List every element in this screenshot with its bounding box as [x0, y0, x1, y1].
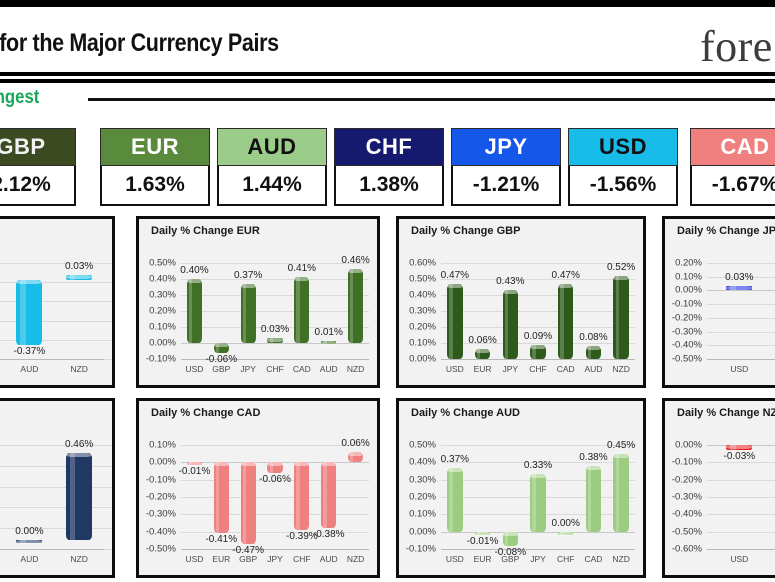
gridline — [441, 532, 635, 533]
bar-value-label: 0.00% — [552, 518, 580, 529]
x-axis-tick-label: JPY — [530, 554, 546, 564]
bar-value-label: 0.38% — [579, 452, 607, 463]
bar-value-label: 0.45% — [607, 440, 635, 451]
bar[interactable] — [530, 345, 546, 359]
x-axis-tick-label: USD — [446, 554, 464, 564]
x-axis-tick-label: AUD — [20, 554, 38, 564]
y-axis-tick-label: 0.20% — [139, 306, 176, 317]
gridline — [0, 263, 112, 264]
gridline — [707, 514, 775, 515]
bar[interactable] — [348, 452, 363, 462]
currency-code-label: USD — [568, 128, 678, 166]
currency-change-value: 1.38% — [334, 166, 444, 206]
strength-card-eur[interactable]: EUR1.63% — [100, 128, 210, 206]
x-axis-tick-label: NZD — [70, 364, 87, 374]
gridline — [707, 532, 775, 533]
bar[interactable] — [726, 286, 752, 290]
brand-logo: fore — [700, 21, 773, 72]
y-axis-tick-label: -0.10% — [665, 299, 702, 310]
bar[interactable] — [503, 290, 519, 359]
plot-area: 0.60%0.50%0.40%0.30%0.20%0.10%0.00%0.47%… — [399, 243, 643, 385]
y-axis-tick-label: 0.40% — [399, 290, 436, 301]
bar[interactable] — [447, 468, 463, 532]
bar[interactable] — [267, 462, 282, 472]
bar[interactable] — [66, 453, 92, 540]
currency-change-value: 1.44% — [217, 166, 327, 206]
x-axis-tick-label: USD — [185, 364, 203, 374]
gridline — [707, 304, 775, 305]
currency-code-label: AUD — [217, 128, 327, 166]
y-axis-tick-label: 0.50% — [399, 274, 436, 285]
bar[interactable] — [348, 269, 363, 343]
bar-value-label: 0.01% — [315, 327, 343, 338]
gridline — [441, 311, 635, 312]
gridline — [181, 497, 369, 498]
gridline — [0, 507, 112, 508]
bar-value-label: 0.47% — [441, 270, 469, 281]
currency-change-value: 1.63% — [100, 166, 210, 206]
x-axis-line — [0, 549, 104, 550]
gridline — [441, 263, 635, 264]
x-axis-tick-label: JPY — [502, 364, 518, 374]
bar[interactable] — [475, 349, 491, 359]
y-axis-tick-label: -0.40% — [665, 340, 702, 351]
gridline — [707, 290, 775, 291]
chart-panel-aud[interactable]: Daily % Change AUD0.50%0.40%0.30%0.20%0.… — [396, 398, 646, 578]
y-axis-tick-label: -0.40% — [665, 509, 702, 520]
x-axis-tick-label: USD — [446, 364, 464, 374]
bar[interactable] — [241, 462, 256, 543]
bar[interactable] — [558, 532, 574, 535]
y-axis-tick-label: -0.30% — [665, 492, 702, 503]
x-axis-tick-label: GBP — [501, 554, 519, 564]
bar-value-label: 0.03% — [725, 272, 753, 283]
bar-value-label: 0.00% — [15, 526, 43, 537]
bar-value-label: 0.33% — [524, 460, 552, 471]
bar-value-label: 0.03% — [261, 324, 289, 335]
x-axis-tick-label: CHF — [557, 554, 574, 564]
bar[interactable] — [294, 462, 309, 530]
bar[interactable] — [613, 454, 629, 532]
plot-area: 0.10%0.00%-0.10%-0.20%-0.30%-0.40%-0.50%… — [139, 425, 377, 575]
y-axis-tick-label: 0.20% — [399, 322, 436, 333]
gridline — [181, 279, 369, 280]
x-axis-tick-label: CAD — [293, 364, 311, 374]
strength-card-aud[interactable]: AUD1.44% — [217, 128, 327, 206]
gridline — [181, 514, 369, 515]
top-rule — [0, 0, 775, 7]
y-axis-tick-label: 0.30% — [399, 474, 436, 485]
y-axis-tick-label: 0.10% — [139, 440, 176, 451]
x-axis-line — [707, 549, 775, 550]
page-title: e for the Major Currency Pairs — [0, 29, 279, 58]
y-axis-tick-label: -0.10% — [139, 474, 176, 485]
y-axis-tick-label: 0.20% — [399, 492, 436, 503]
x-axis-tick-label: CHF — [293, 554, 310, 564]
bar-value-label: -0.01% — [467, 536, 499, 547]
bar-value-label: -0.06% — [259, 474, 291, 485]
x-axis-tick-label: NZD — [612, 554, 629, 564]
x-axis-tick-label: USD — [730, 554, 748, 564]
chart-panel-usd[interactable]: Daily % Change USD-0.34%CHF0.01%CAD-0.37… — [0, 216, 115, 388]
x-axis-tick-label: NZD — [347, 364, 364, 374]
bar-value-label: -0.01% — [179, 466, 211, 477]
x-axis-line — [441, 359, 635, 360]
y-axis-tick-label: 0.40% — [399, 457, 436, 468]
x-axis-tick-label: NZD — [612, 364, 629, 374]
bar[interactable] — [66, 275, 92, 280]
y-axis-tick-label: 0.00% — [665, 440, 702, 451]
chart-panel-cad[interactable]: Daily % Change CAD0.10%0.00%-0.10%-0.20%… — [136, 398, 380, 578]
strength-card-gbp[interactable]: GBP2.12% — [0, 128, 76, 206]
x-axis-line — [181, 549, 369, 550]
bar-value-label: 0.43% — [496, 276, 524, 287]
currency-change-value: -1.56% — [568, 166, 678, 206]
y-axis-tick-label: 0.50% — [399, 440, 436, 451]
strength-card-cad[interactable]: CAD-1.67% — [690, 128, 775, 206]
bar[interactable] — [475, 532, 491, 535]
strength-card-usd[interactable]: USD-1.56% — [568, 128, 678, 206]
x-axis-tick-label: NZD — [347, 554, 364, 564]
gridline — [181, 343, 369, 344]
bar[interactable] — [214, 462, 229, 533]
page-header: e for the Major Currency Pairs fore — [0, 7, 775, 72]
bar-value-label: -0.03% — [723, 451, 755, 462]
currency-strength-cards: GBP2.12%EUR1.63%AUD1.44%CHF1.38%JPY-1.21… — [0, 128, 775, 208]
bar[interactable] — [321, 462, 336, 528]
bar[interactable] — [613, 276, 629, 359]
forex-dashboard: e for the Major Currency Pairs fore rong… — [0, 0, 775, 582]
bar[interactable] — [267, 338, 282, 343]
bar-value-label: -0.37% — [14, 346, 46, 357]
y-axis-tick-label: -0.50% — [665, 526, 702, 537]
currency-change-value: -1.67% — [690, 166, 775, 206]
y-axis-tick-label: 0.60% — [399, 258, 436, 269]
y-axis-tick-label: -0.20% — [665, 312, 702, 323]
strongest-divider — [88, 98, 775, 101]
x-axis-tick-label: AUD — [20, 364, 38, 374]
bar[interactable] — [241, 284, 256, 343]
x-axis-tick-label: GBP — [239, 554, 257, 564]
chart-title: Daily % Change CAD — [151, 407, 260, 419]
chart-panel-gbp[interactable]: Daily % Change GBP0.60%0.50%0.40%0.30%0.… — [396, 216, 646, 388]
gridline — [707, 263, 775, 264]
y-axis-tick-label: 0.00% — [665, 285, 702, 296]
y-axis-tick-label: -0.20% — [665, 474, 702, 485]
bar-value-label: 0.47% — [552, 270, 580, 281]
currency-code-label: CHF — [334, 128, 444, 166]
x-axis-tick-label: EUR — [474, 554, 492, 564]
bar-value-label: -0.41% — [205, 534, 237, 545]
x-axis-tick-label: CHF — [529, 364, 546, 374]
y-axis-tick-label: 0.00% — [139, 338, 176, 349]
bar-value-label: 0.37% — [441, 454, 469, 465]
bar[interactable] — [187, 279, 202, 343]
y-axis-tick-label: -0.20% — [139, 492, 176, 503]
bar-value-label: 0.06% — [468, 335, 496, 346]
gridline — [0, 487, 112, 488]
plot-area: -0.34%CHF0.01%CAD-0.37%AUD0.03%NZD — [0, 243, 112, 385]
strongest-row: rongest — [0, 86, 775, 120]
gridline — [441, 279, 635, 280]
bar-value-label: 0.37% — [234, 270, 262, 281]
gridline — [181, 295, 369, 296]
bar-value-label: 0.08% — [579, 332, 607, 343]
y-axis-tick-label: 0.40% — [139, 274, 176, 285]
bar-value-label: 0.06% — [341, 438, 369, 449]
x-axis-tick-label: NZD — [70, 554, 87, 564]
x-axis-tick-label: EUR — [212, 554, 230, 564]
x-axis-tick-label: JPY — [240, 364, 256, 374]
y-axis-tick-label: 0.10% — [399, 338, 436, 349]
bar-value-label: 0.03% — [65, 261, 93, 272]
bar-value-label: 0.46% — [341, 255, 369, 266]
x-axis-tick-label: GBP — [212, 364, 230, 374]
plot-area: 0.20%0.10%0.00%-0.10%-0.20%-0.30%-0.40%-… — [665, 243, 775, 385]
chart-title: Daily % Change EUR — [151, 225, 260, 237]
chart-title: Daily % Change GBP — [411, 225, 520, 237]
x-axis-tick-label: USD — [730, 364, 748, 374]
x-axis-line — [0, 359, 104, 360]
y-axis-tick-label: 0.30% — [399, 306, 436, 317]
x-axis-tick-label: CHF — [266, 364, 283, 374]
currency-code-label: EUR — [100, 128, 210, 166]
strongest-label: rongest — [0, 87, 39, 109]
bar[interactable] — [187, 462, 202, 465]
bar[interactable] — [214, 343, 229, 353]
y-axis-tick-label: -0.60% — [665, 544, 702, 555]
plot-area: 0.00%-0.10%-0.20%-0.30%-0.40%-0.50%-0.60… — [665, 425, 775, 575]
chart-title: Daily % Change NZD — [677, 407, 775, 419]
x-axis-tick-label: AUD — [320, 554, 338, 564]
bar-value-label: 0.52% — [607, 262, 635, 273]
gridline — [707, 345, 775, 346]
y-axis-tick-label: -0.40% — [139, 526, 176, 537]
gridline — [707, 318, 775, 319]
x-axis-tick-label: AUD — [584, 364, 602, 374]
bar-value-label: 0.46% — [65, 439, 93, 450]
gridline — [441, 327, 635, 328]
y-axis-tick-label: 0.50% — [139, 258, 176, 269]
gridline — [707, 332, 775, 333]
y-axis-tick-label: -0.10% — [399, 544, 436, 555]
y-axis-tick-label: 0.10% — [399, 509, 436, 520]
y-axis-tick-label: -0.50% — [139, 544, 176, 555]
strength-card-chf[interactable]: CHF1.38% — [334, 128, 444, 206]
bar[interactable] — [586, 466, 602, 532]
currency-code-label: GBP — [0, 128, 76, 166]
chart-panel-eur[interactable]: Daily % Change EUR0.50%0.40%0.30%0.20%0.… — [136, 216, 380, 388]
chart-title: Daily % Change JPY — [677, 225, 775, 237]
x-axis-tick-label: USD — [185, 554, 203, 564]
chart-panel-chf[interactable]: Daily % Change CHF0.32%JPY0.39%CAD0.00%A… — [0, 398, 115, 578]
plot-area: 0.50%0.40%0.30%0.20%0.10%0.00%-0.10%0.37… — [399, 425, 643, 575]
y-axis-tick-label: 0.00% — [399, 526, 436, 537]
y-axis-tick-label: 0.00% — [139, 457, 176, 468]
gridline — [441, 295, 635, 296]
x-axis-tick-label: JPY — [267, 554, 283, 564]
gridline — [707, 480, 775, 481]
bar[interactable] — [16, 280, 42, 345]
chart-title: Daily % Change AUD — [411, 407, 520, 419]
x-axis-tick-label: CAD — [584, 554, 602, 564]
plot-area: 0.50%0.40%0.30%0.20%0.10%0.00%-0.10%0.40… — [139, 243, 377, 385]
y-axis-tick-label: -0.10% — [665, 457, 702, 468]
bar-value-label: 0.09% — [524, 331, 552, 342]
gridline — [707, 497, 775, 498]
x-axis-tick-label: AUD — [320, 364, 338, 374]
bar[interactable] — [530, 474, 546, 531]
bar-value-label: -0.06% — [205, 354, 237, 365]
x-axis-line — [441, 549, 635, 550]
x-axis-tick-label: EUR — [474, 364, 492, 374]
currency-change-value: -1.21% — [451, 166, 561, 206]
gridline — [181, 311, 369, 312]
bar[interactable] — [558, 284, 574, 359]
bar[interactable] — [586, 346, 602, 359]
currency-code-label: CAD — [690, 128, 775, 166]
y-axis-tick-label: -0.30% — [665, 326, 702, 337]
header-rule-lower — [0, 79, 775, 83]
y-axis-tick-label: 0.30% — [139, 290, 176, 301]
bar-value-label: 0.41% — [288, 263, 316, 274]
gridline — [707, 462, 775, 463]
bar[interactable] — [294, 277, 309, 343]
plot-area: 0.32%JPY0.39%CAD0.00%AUD0.46%NZD — [0, 425, 112, 575]
bar-value-label: 0.40% — [180, 265, 208, 276]
y-axis-tick-label: 0.20% — [665, 258, 702, 269]
gridline — [0, 445, 112, 446]
header-rule-upper — [0, 72, 775, 76]
chart-panel-jpy[interactable]: Daily % Change JPY0.20%0.10%0.00%-0.10%-… — [662, 216, 775, 388]
bar[interactable] — [321, 341, 336, 344]
y-axis-tick-label: 0.10% — [139, 322, 176, 333]
gridline — [0, 466, 112, 467]
y-axis-tick-label: -0.50% — [665, 354, 702, 365]
y-axis-tick-label: 0.00% — [399, 354, 436, 365]
bar[interactable] — [503, 532, 519, 546]
x-axis-line — [707, 359, 775, 360]
currency-change-value: 2.12% — [0, 166, 76, 206]
strength-card-jpy[interactable]: JPY-1.21% — [451, 128, 561, 206]
currency-code-label: JPY — [451, 128, 561, 166]
chart-panel-nzd[interactable]: Daily % Change NZD0.00%-0.10%-0.20%-0.30… — [662, 398, 775, 578]
y-axis-tick-label: -0.30% — [139, 509, 176, 520]
y-axis-tick-label: 0.10% — [665, 271, 702, 282]
bar[interactable] — [447, 284, 463, 359]
y-axis-tick-label: -0.10% — [139, 354, 176, 365]
bar[interactable] — [16, 540, 42, 543]
bar-value-label: -0.38% — [313, 529, 345, 540]
gridline — [441, 445, 635, 446]
x-axis-tick-label: CAD — [557, 364, 575, 374]
bar[interactable] — [726, 445, 752, 450]
